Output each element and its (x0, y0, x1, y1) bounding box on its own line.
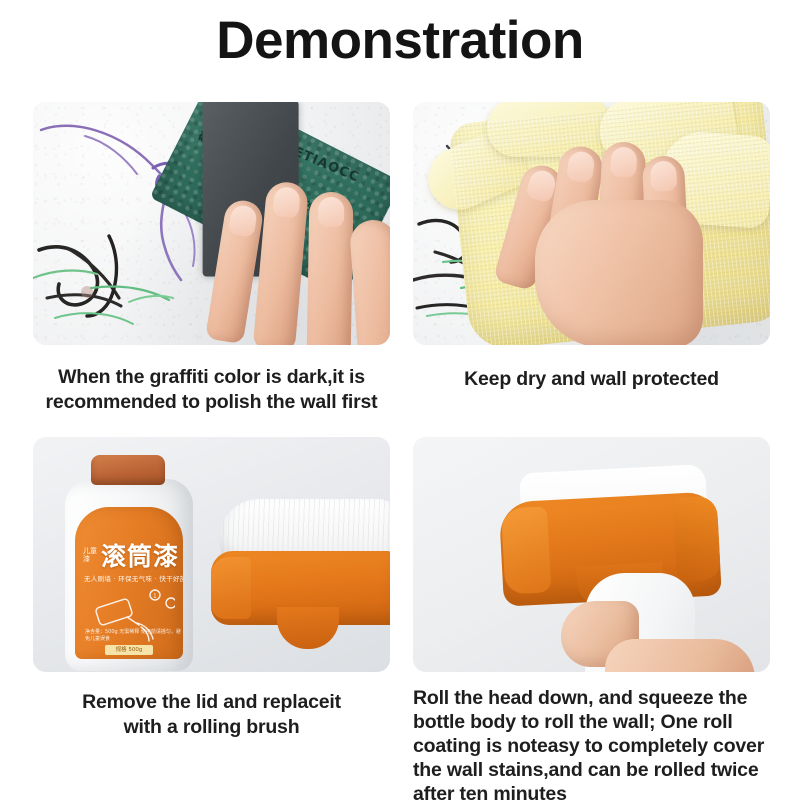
step-2-caption: Keep dry and wall protected (413, 367, 770, 392)
caption-line: with a rolling brush (33, 715, 390, 740)
demo-steps-grid: QETIAOCC 研磨砂块 细砂 S 21 (33, 102, 770, 792)
demo-step-3: 儿童漆 滚筒漆 无人刷墙 · 环保无气味 · 快干好施工 · 遮盖力强 1 (33, 437, 390, 740)
step-3-caption: Remove the lid and replaceit with a roll… (33, 690, 390, 740)
label-footnote: 净含量：500g 无需稀释 使用前请摇匀，避免儿童误食 (85, 629, 183, 643)
roller-arm (211, 557, 251, 619)
caption-line: after ten minutes (413, 782, 770, 806)
page-title: Demonstration (0, 10, 800, 72)
demo-step-1: QETIAOCC 研磨砂块 细砂 S 21 (33, 102, 390, 415)
fingernail (272, 186, 301, 218)
caption-line: When the graffiti color is dark,it is (33, 365, 390, 390)
label-badge: 规格 500g (105, 645, 153, 655)
hand (505, 130, 717, 345)
caption-line: Remove the lid and replaceit (33, 690, 390, 715)
fingernail (610, 146, 638, 177)
photo-rolling-the-wall-with-roller (413, 437, 770, 672)
photo-wiping-wall-with-yellow-cloth (413, 102, 770, 345)
fingernail (318, 197, 345, 227)
fingernail (650, 160, 678, 191)
hand (208, 174, 390, 345)
caption-line: Keep dry and wall protected (413, 367, 770, 392)
bottle-cap (91, 455, 165, 485)
fingernail (566, 150, 596, 184)
paint-bottle: 儿童漆 滚筒漆 无人刷墙 · 环保无气味 · 快干好施工 · 遮盖力强 1 (65, 455, 193, 671)
label-subline: 无人刷墙 · 环保无气味 · 快干好施工 · 遮盖力强 (84, 573, 183, 583)
roller-end-cap-right (673, 495, 721, 581)
demo-step-2: Keep dry and wall protected (413, 102, 770, 392)
caption-line: bottle body to roll the wall; One roll (413, 710, 770, 734)
fingernail (228, 204, 258, 238)
photo-paint-bottle-and-roller-head: 儿童漆 滚筒漆 无人刷墙 · 环保无气味 · 快干好施工 · 遮盖力强 1 (33, 437, 390, 672)
step-4-caption: Roll the head down, and squeeze the bott… (413, 686, 770, 806)
palm (605, 639, 755, 672)
caption-line: the wall stains,and can be rolled twice (413, 758, 770, 782)
caption-line: recommended to polish the wall first (33, 390, 390, 415)
demo-step-4: Roll the head down, and squeeze the bott… (413, 437, 770, 806)
photo-sanding-block-on-graffiti-wall: QETIAOCC 研磨砂块 细砂 S 21 (33, 102, 390, 345)
label-corner-text: 儿童漆 (83, 547, 99, 563)
caption-line: coating is noteasy to completely cover (413, 734, 770, 758)
hand-gripping-bottle (561, 579, 751, 672)
palm (535, 200, 703, 345)
svg-text:1: 1 (153, 593, 157, 600)
caption-line: Roll the head down, and squeeze the (413, 686, 770, 710)
roller-end-cap-left (501, 506, 551, 594)
roller-brush-head (211, 499, 390, 649)
roller-neck (277, 607, 339, 649)
label-headline: 滚筒漆 (101, 537, 179, 573)
step-1-caption: When the graffiti color is dark,it is re… (33, 365, 390, 415)
bottle-label: 儿童漆 滚筒漆 无人刷墙 · 环保无气味 · 快干好施工 · 遮盖力强 1 (75, 507, 183, 659)
